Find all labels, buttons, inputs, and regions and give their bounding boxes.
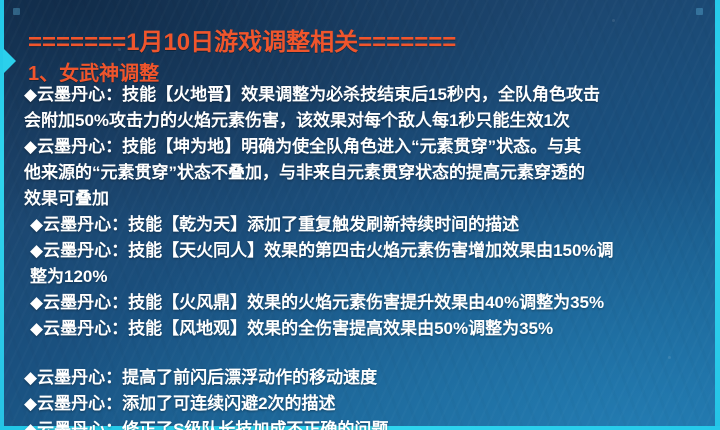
patch-note-line: 会附加50%攻击力的火焰元素伤害，该效果对每个敌人每1秒只能生效1次	[0, 108, 720, 134]
patch-note-line: 整为120%	[0, 264, 720, 290]
patch-notes-list: ◆云墨丹心：技能【火地晋】效果调整为必杀技结束后15秒内，全队角色攻击会附加50…	[0, 82, 720, 430]
patch-note-line: ◆云墨丹心：技能【乾为天】添加了重复触发刷新持续时间的描述	[0, 212, 720, 238]
patch-note-line: ◆云墨丹心：技能【火地晋】效果调整为必杀技结束后15秒内，全队角色攻击	[0, 82, 720, 108]
page-title: =======1月10日游戏调整相关=======	[28, 22, 456, 57]
patch-note-line: ◆云墨丹心：技能【天火同人】效果的第四击火焰元素伤害增加效果由150%调	[0, 238, 720, 264]
announcement-content: =======1月10日游戏调整相关======= 1、女武神调整 ◆云墨丹心：…	[0, 0, 720, 430]
patch-note-line: ◆云墨丹心：技能【风地观】效果的全伤害提高效果由50%调整为35%	[0, 316, 720, 342]
patch-note-line: ◆云墨丹心：添加了可连续闪避2次的描述	[0, 391, 720, 417]
patch-note-line: ◆云墨丹心：提高了前闪后漂浮动作的移动速度	[0, 365, 720, 391]
patch-note-line: ◆云墨丹心：技能【坤为地】明确为使全队角色进入“元素贯穿”状态。与其	[0, 134, 720, 160]
announcement-panel: =======1月10日游戏调整相关======= 1、女武神调整 ◆云墨丹心：…	[0, 0, 720, 430]
patch-note-line: ◆云墨丹心：修正了S级队长技加成不正确的问题	[0, 417, 720, 430]
patch-note-line: 他来源的“元素贯穿”状态不叠加，与非来自元素贯穿状态的提高元素穿透的	[0, 160, 720, 186]
patch-note-line: ◆云墨丹心：技能【火风鼎】效果的火焰元素伤害提升效果由40%调整为35%	[0, 290, 720, 316]
block-separator	[0, 342, 720, 365]
patch-note-line: 效果可叠加	[0, 186, 720, 212]
